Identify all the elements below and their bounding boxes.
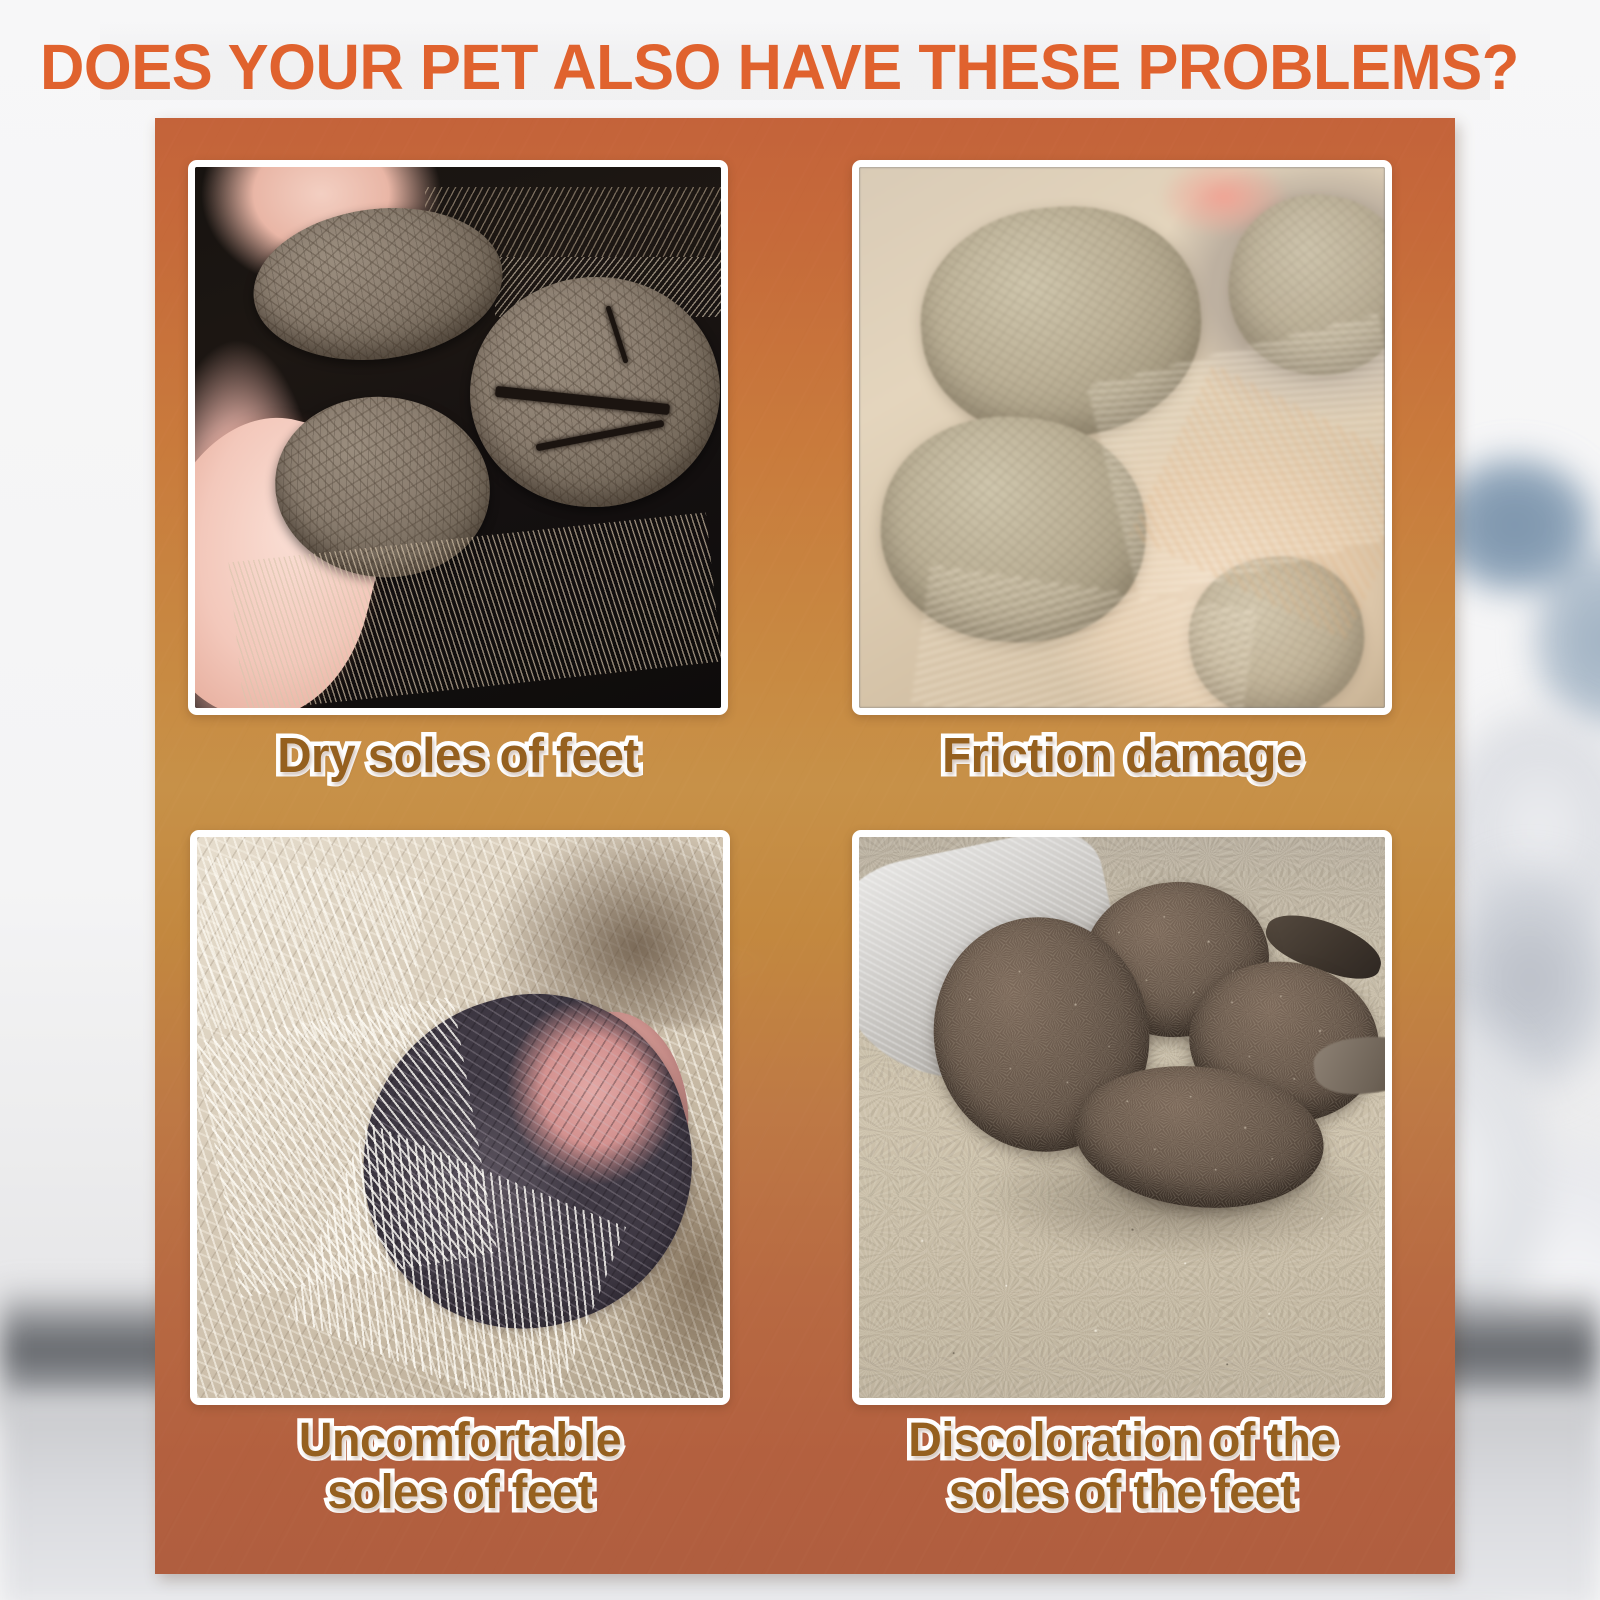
- problems-panel: Dry soles of feet Friction: [155, 118, 1455, 1574]
- card-caption: Discoloration of thesoles of the feet: [860, 1415, 1384, 1519]
- caption-line-1: Discoloration of the: [908, 1414, 1335, 1467]
- caption-line-2: soles of the feet: [949, 1466, 1295, 1519]
- fur-texture: [911, 565, 1257, 708]
- friction-damaged-paw-photo: [859, 167, 1385, 708]
- card-caption: Uncomfortablesoles of feet: [198, 1415, 722, 1519]
- page-title: DOES YOUR PET ALSO HAVE THESE PROBLEMS?: [40, 36, 1519, 98]
- caption-line-2: soles of feet: [327, 1466, 592, 1519]
- dry-cracked-paw-pads-photo: [195, 167, 721, 708]
- problem-card-friction-damage[interactable]: Friction damage: [852, 160, 1392, 850]
- photo-frame: [852, 830, 1392, 1405]
- card-caption: Friction damage: [860, 729, 1384, 783]
- uncomfortable-paw-photo: [197, 837, 723, 1398]
- photo-frame: [852, 160, 1392, 715]
- photo-frame: [188, 160, 728, 715]
- problems-grid: Dry soles of feet Friction: [155, 118, 1455, 1574]
- infographic-stage: DOES YOUR PET ALSO HAVE THESE PROBLEMS?: [0, 0, 1600, 1600]
- photo-frame: [190, 830, 730, 1405]
- problem-card-dry-soles[interactable]: Dry soles of feet: [188, 160, 728, 850]
- card-caption: Dry soles of feet: [196, 729, 720, 783]
- headline-container: DOES YOUR PET ALSO HAVE THESE PROBLEMS?: [0, 20, 1600, 100]
- caption-line-1: Uncomfortable: [299, 1414, 621, 1467]
- discolored-paw-on-sand-photo: [859, 837, 1385, 1398]
- problem-card-discoloration[interactable]: Discoloration of thesoles of the feet: [852, 830, 1392, 1550]
- problem-card-uncomfortable-soles[interactable]: Uncomfortablesoles of feet: [190, 830, 730, 1550]
